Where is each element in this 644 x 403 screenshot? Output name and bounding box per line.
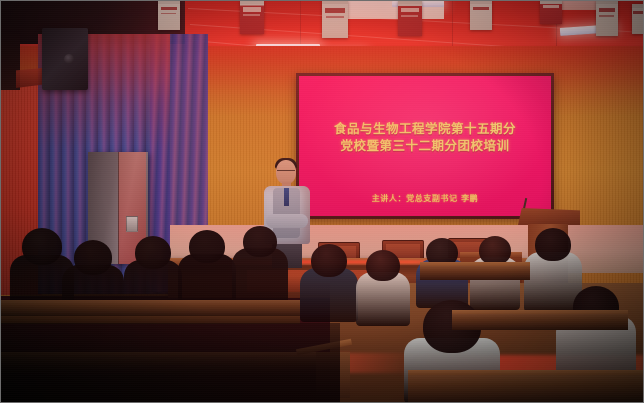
row-back xyxy=(420,266,530,280)
banner-logo xyxy=(325,8,345,13)
person-head xyxy=(243,226,277,257)
hanging-banner xyxy=(398,0,422,36)
glasses-icon xyxy=(277,170,295,175)
person-head xyxy=(366,250,400,281)
hanging-banner xyxy=(322,0,348,38)
banner-rod xyxy=(540,0,562,4)
banner-rod xyxy=(470,0,492,4)
presenter-tie xyxy=(284,188,289,206)
banner-text-block xyxy=(243,14,260,16)
banner-rod xyxy=(632,4,644,8)
banner-text-block xyxy=(326,16,344,18)
ceiling-speaker xyxy=(42,28,88,90)
banner-logo xyxy=(161,7,178,11)
slide-subtitle: 主讲人：党总支副书记 李鹏 xyxy=(299,193,551,204)
banner-rod xyxy=(158,0,180,4)
banner-rod xyxy=(240,0,264,4)
hanging-banner xyxy=(240,0,264,34)
lectern-top xyxy=(518,208,580,225)
banner-logo xyxy=(473,7,490,11)
banner-logo xyxy=(543,5,560,8)
hanging-banner xyxy=(596,0,618,36)
row-back xyxy=(452,314,628,330)
banner-logo xyxy=(243,7,261,11)
hanging-banner xyxy=(470,0,492,30)
person-head xyxy=(74,240,112,275)
banner-logo xyxy=(633,11,642,15)
person-head xyxy=(22,228,62,265)
foreground-shadow xyxy=(0,323,340,403)
hanging-banner xyxy=(540,0,562,24)
banner-text-block xyxy=(599,15,614,17)
banner-logo xyxy=(401,8,419,12)
banner-logo xyxy=(599,8,616,12)
audience-mid-1 xyxy=(232,226,288,310)
slide-title: 食品与生物工程学院第十五期分 党校暨第三十二期分团校培训 xyxy=(299,120,551,154)
audience-mid-2 xyxy=(300,244,358,322)
lecture-hall-photo: 食品与生物工程学院第十五期分 党校暨第三十二期分团校培训 主讲人：党总支副书记 … xyxy=(0,0,644,403)
person-head xyxy=(311,244,347,277)
hanging-banner xyxy=(632,4,644,34)
banner-rod xyxy=(596,0,618,4)
row-back xyxy=(408,375,644,403)
audience-right-1 xyxy=(356,250,410,326)
banner-rod xyxy=(398,0,422,4)
presentation-screen-frame: 食品与生物工程学院第十五期分 党校暨第三十二期分团校培训 主讲人：党总支副书记 … xyxy=(296,73,554,219)
speaker-cone-icon xyxy=(64,54,74,64)
person-head xyxy=(135,236,171,269)
person-head xyxy=(189,230,225,263)
cabinet-latch xyxy=(126,216,138,232)
person-head xyxy=(535,228,571,261)
presentation-screen[interactable]: 食品与生物工程学院第十五期分 党校暨第三十二期分团校培训 主讲人：党总支副书记 … xyxy=(299,76,551,216)
bench-back-rail[interactable] xyxy=(0,300,300,316)
person-head xyxy=(479,236,511,265)
hanging-banner xyxy=(158,0,180,30)
banner-text-block xyxy=(161,13,176,15)
banner-text-block xyxy=(401,15,418,17)
banner-rod xyxy=(322,0,348,4)
